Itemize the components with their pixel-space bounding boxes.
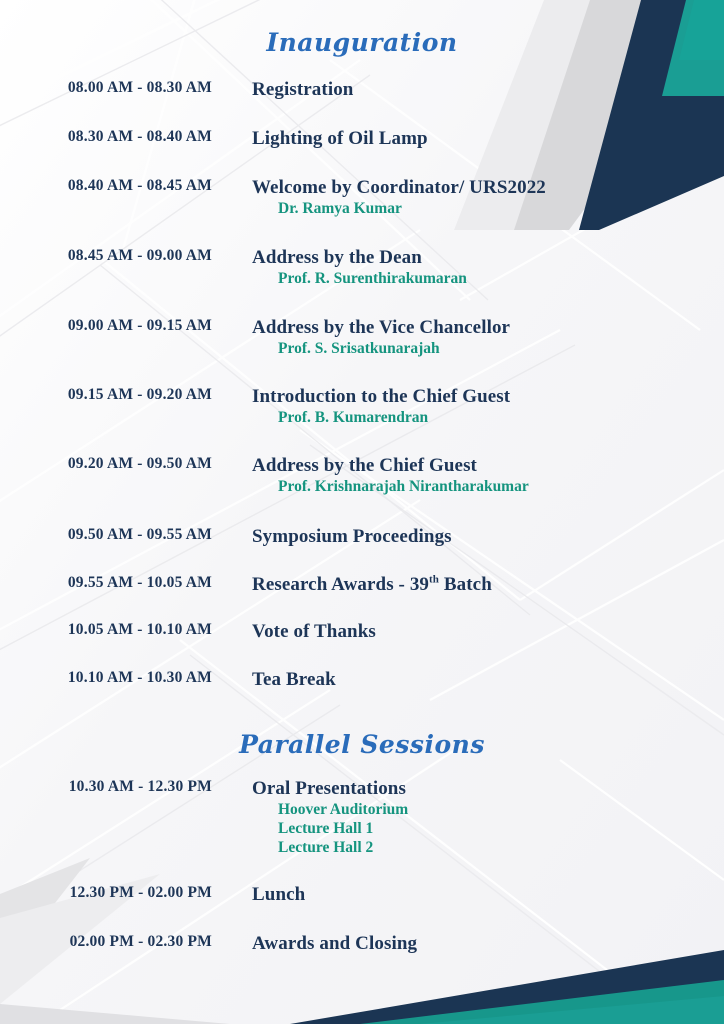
- row-topic: Registration: [252, 78, 353, 102]
- row-topic-suffix: Batch: [439, 574, 492, 595]
- schedule-row: 09.50 AM - 09.55 AM Symposium Proceeding…: [0, 525, 660, 549]
- row-topic: Vote of Thanks: [252, 620, 376, 644]
- schedule-row: 02.00 PM - 02.30 PM Awards and Closing: [0, 932, 660, 956]
- row-time: 08.30 AM - 08.40 AM: [0, 127, 212, 146]
- ordinal-suffix: th: [429, 574, 439, 586]
- row-topic: Address by the Vice Chancellor: [252, 316, 510, 340]
- schedule-row: 09.55 AM - 10.05 AM Research Awards - 39…: [0, 573, 660, 597]
- row-topic: Lunch: [252, 883, 305, 907]
- row-subtitle: Prof. Krishnarajah Nirantharakumar: [252, 478, 529, 497]
- schedule-row: 10.10 AM - 10.30 AM Tea Break: [0, 668, 660, 692]
- schedule-row: 09.20 AM - 09.50 AM Address by the Chief…: [0, 454, 660, 497]
- row-detail: Registration: [212, 78, 353, 102]
- row-detail: Lunch: [212, 883, 305, 907]
- row-topic: Lighting of Oil Lamp: [252, 127, 428, 151]
- row-time: 09.20 AM - 09.50 AM: [0, 454, 212, 473]
- schedule-row: 12.30 PM - 02.00 PM Lunch: [0, 883, 660, 907]
- row-topic: Oral Presentations: [252, 777, 408, 801]
- row-topic-awards: Research Awards - 39th Batch: [252, 573, 492, 597]
- row-time: 08.45 AM - 09.00 AM: [0, 246, 212, 265]
- agenda-content: Inauguration 08.00 AM - 08.30 AM Registr…: [0, 0, 724, 1024]
- schedule-row: 08.00 AM - 08.30 AM Registration: [0, 78, 660, 102]
- row-subtitle: Prof. B. Kumarendran: [252, 409, 510, 428]
- row-time: 10.10 AM - 10.30 AM: [0, 668, 212, 687]
- row-topic: Awards and Closing: [252, 932, 417, 956]
- row-detail: Lighting of Oil Lamp: [212, 127, 428, 151]
- row-subtitle: Lecture Hall 1: [252, 820, 408, 839]
- row-subtitle: Prof. R. Surenthirakumaran: [252, 270, 467, 289]
- row-topic: Address by the Dean: [252, 246, 467, 270]
- row-time: 09.00 AM - 09.15 AM: [0, 316, 212, 335]
- row-time: 09.15 AM - 09.20 AM: [0, 385, 212, 404]
- row-time: 09.55 AM - 10.05 AM: [0, 573, 212, 592]
- row-detail: Tea Break: [212, 668, 336, 692]
- row-topic: Introduction to the Chief Guest: [252, 385, 510, 409]
- row-time: 08.40 AM - 08.45 AM: [0, 176, 212, 195]
- row-topic: Symposium Proceedings: [252, 525, 452, 549]
- row-time: 12.30 PM - 02.00 PM: [0, 883, 212, 902]
- row-detail: Welcome by Coordinator/ URS2022 Dr. Ramy…: [212, 176, 546, 219]
- row-time: 09.50 AM - 09.55 AM: [0, 525, 212, 544]
- row-detail: Oral Presentations Hoover Auditorium Lec…: [212, 777, 408, 857]
- row-detail: Vote of Thanks: [212, 620, 376, 644]
- row-detail: Introduction to the Chief Guest Prof. B.…: [212, 385, 510, 428]
- schedule-row: 10.05 AM - 10.10 AM Vote of Thanks: [0, 620, 660, 644]
- row-time: 02.00 PM - 02.30 PM: [0, 932, 212, 951]
- row-subtitle: Prof. S. Srisatkunarajah: [252, 340, 510, 359]
- row-time: 08.00 AM - 08.30 AM: [0, 78, 212, 97]
- row-time: 10.05 AM - 10.10 AM: [0, 620, 212, 639]
- row-detail: Address by the Chief Guest Prof. Krishna…: [212, 454, 529, 497]
- row-topic: Tea Break: [252, 668, 336, 692]
- section-heading-inauguration: Inauguration: [0, 28, 724, 57]
- row-detail: Address by the Vice Chancellor Prof. S. …: [212, 316, 510, 359]
- row-detail: Research Awards - 39th Batch: [212, 573, 492, 597]
- row-topic-prefix: Research Awards - 39: [252, 574, 429, 595]
- schedule-row: 10.30 AM - 12.30 PM Oral Presentations H…: [0, 777, 660, 857]
- row-time: 10.30 AM - 12.30 PM: [0, 777, 212, 796]
- schedule-row: 08.45 AM - 09.00 AM Address by the Dean …: [0, 246, 660, 289]
- row-detail: Symposium Proceedings: [212, 525, 452, 549]
- row-topic: Address by the Chief Guest: [252, 454, 529, 478]
- section-heading-parallel-sessions: Parallel Sessions: [0, 730, 724, 759]
- row-subtitle: Dr. Ramya Kumar: [252, 200, 546, 219]
- row-subtitle: Hoover Auditorium: [252, 801, 408, 820]
- schedule-row: 08.40 AM - 08.45 AM Welcome by Coordinat…: [0, 176, 660, 219]
- schedule-row: 08.30 AM - 08.40 AM Lighting of Oil Lamp: [0, 127, 660, 151]
- schedule-row: 09.00 AM - 09.15 AM Address by the Vice …: [0, 316, 660, 359]
- programme-page: Inauguration 08.00 AM - 08.30 AM Registr…: [0, 0, 724, 1024]
- row-subtitle: Lecture Hall 2: [252, 839, 408, 858]
- row-detail: Awards and Closing: [212, 932, 417, 956]
- row-topic: Welcome by Coordinator/ URS2022: [252, 176, 546, 200]
- row-detail: Address by the Dean Prof. R. Surenthirak…: [212, 246, 467, 289]
- schedule-row: 09.15 AM - 09.20 AM Introduction to the …: [0, 385, 660, 428]
